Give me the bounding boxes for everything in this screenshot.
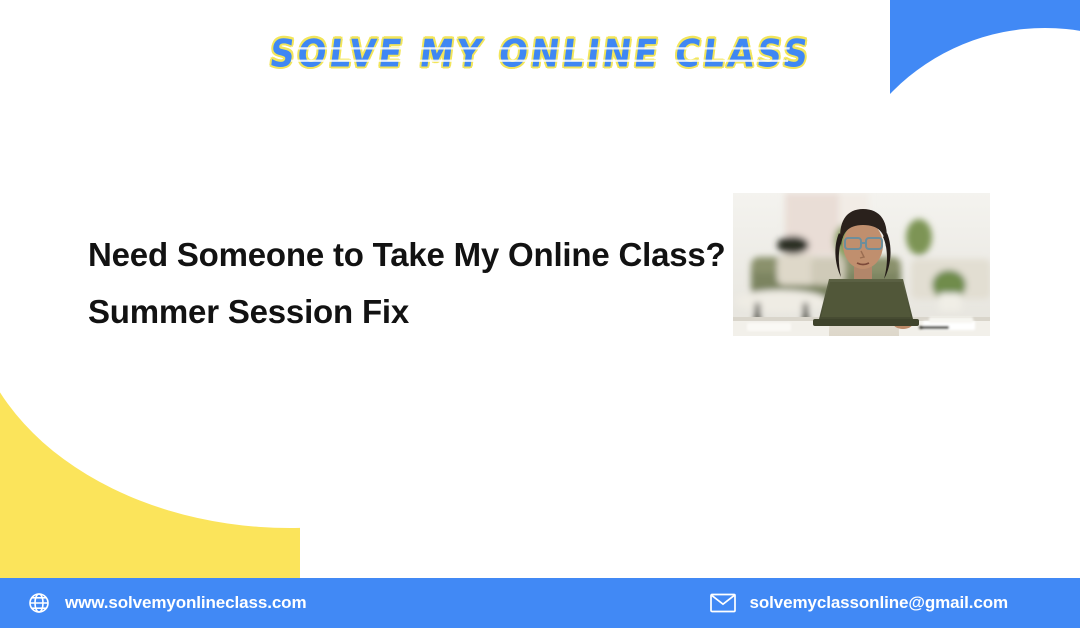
brand-logo-text: SOLVE MY ONLINE CLASS [267,32,813,77]
footer-email[interactable]: solvemyclassonline@gmail.com [710,593,1009,613]
envelope-icon [710,593,736,613]
promo-banner: SOLVE MY ONLINE CLASS Need Someone to Ta… [0,0,1080,628]
hero-photo-illustration [733,193,990,336]
footer-website-label: www.solvemyonlineclass.com [65,593,306,613]
contact-footer-bar: www.solvemyonlineclass.com solvemyclasso… [0,578,1080,628]
brand-logo: SOLVE MY ONLINE CLASS [0,34,1080,74]
headline-text: Need Someone to Take My Online Class? Su… [88,226,738,340]
footer-website[interactable]: www.solvemyonlineclass.com [27,591,306,615]
decor-yellow-corner-shape [0,388,300,578]
footer-email-label: solvemyclassonline@gmail.com [750,593,1009,613]
globe-icon [27,591,51,615]
hero-photo [733,193,990,336]
